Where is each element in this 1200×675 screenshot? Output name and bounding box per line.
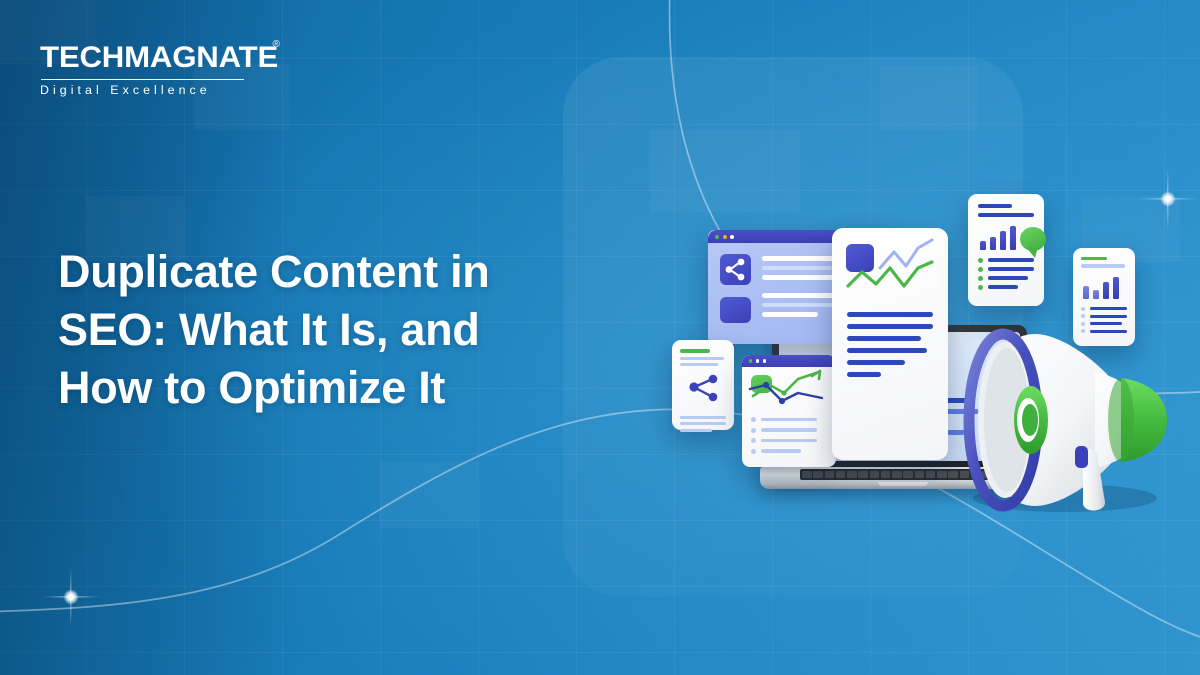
document-bar-chart-card	[968, 194, 1044, 306]
registered-trademark-icon: ®	[273, 40, 280, 50]
bar-chart-icon	[1083, 277, 1127, 299]
logo-tagline: Digital Excellence	[40, 84, 269, 96]
page-title: Duplicate Content in SEO: What It Is, an…	[58, 243, 598, 417]
share-nodes-icon	[685, 373, 723, 403]
logo-wordmark: TECHMAGNATE	[40, 43, 278, 73]
window-dot-white-2	[763, 359, 766, 362]
headline-line-1: Duplicate Content in	[58, 243, 598, 301]
browser-window-icon-chart	[742, 355, 836, 467]
window-dot-green	[715, 235, 719, 239]
browser-title-bar	[742, 355, 836, 367]
speech-bubble-icon	[1020, 227, 1046, 251]
document-line-chart-card	[832, 228, 948, 460]
window-dot-green	[749, 359, 752, 362]
brand-logo[interactable]: TECHMAGNATE ® Digital Excellence	[40, 43, 269, 97]
headline-line-3: How to Optimize It	[58, 359, 598, 417]
document-share-card	[672, 340, 734, 430]
share-nodes-icon	[720, 254, 751, 285]
banner-canvas: TECHMAGNATE ® Digital Excellence Duplica…	[0, 0, 1200, 675]
laptop-trackpad	[878, 482, 928, 486]
window-dot-orange	[723, 235, 727, 239]
sparkle-icon-left	[40, 566, 102, 628]
window-dot-white	[730, 235, 734, 239]
line-chart-icon	[742, 367, 836, 413]
hero-illustration	[650, 150, 1200, 570]
logo-divider	[41, 79, 244, 80]
placeholder-square	[720, 297, 751, 323]
line-chart-icon	[832, 228, 948, 312]
window-dot-white	[756, 359, 759, 362]
headline-line-2: SEO: What It Is, and	[58, 301, 598, 359]
megaphone-icon	[945, 320, 1195, 520]
logo-wordmark-wrap: TECHMAGNATE ®	[40, 43, 269, 73]
